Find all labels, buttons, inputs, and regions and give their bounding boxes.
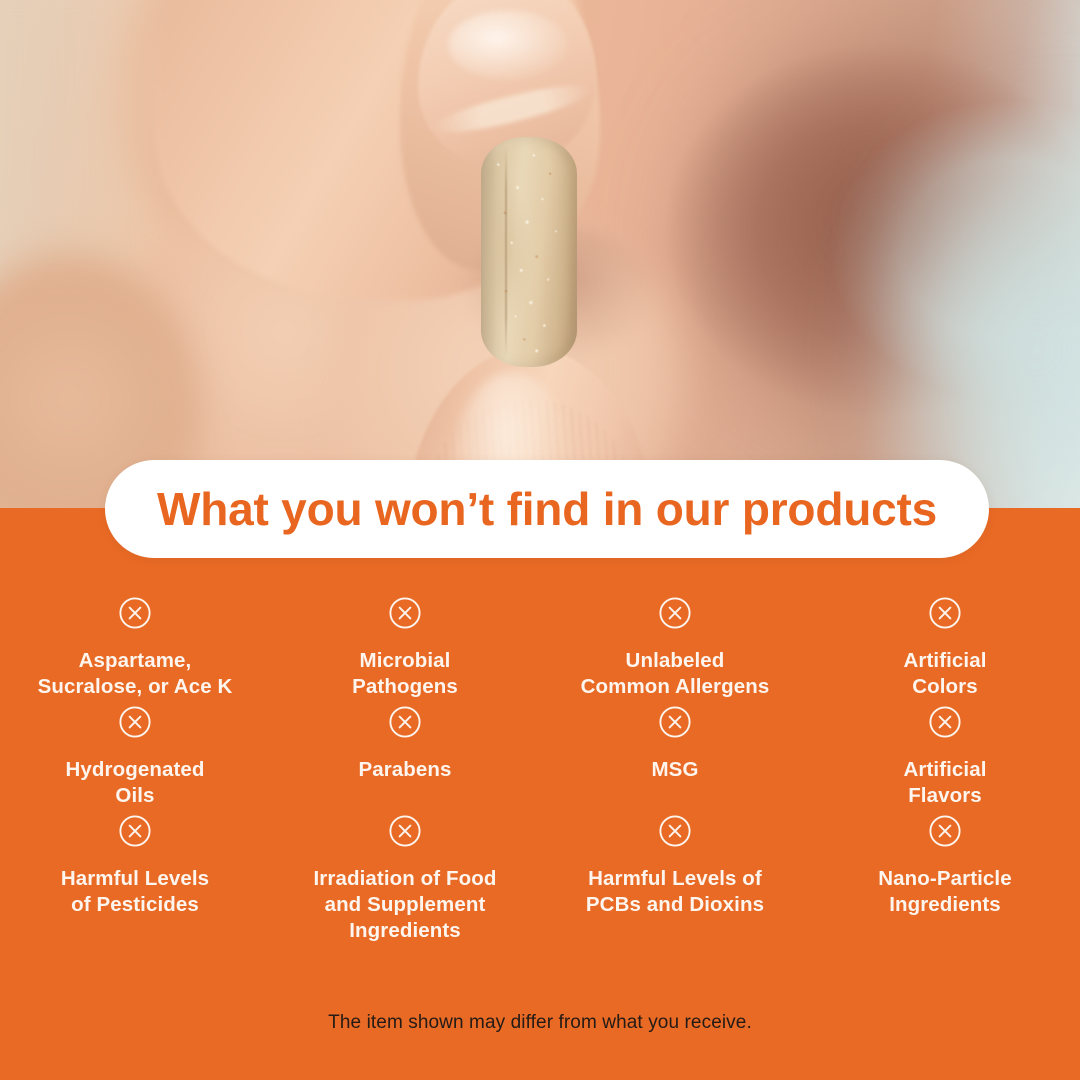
exclusion-item: Unlabeled Common Allergens (540, 580, 810, 689)
title-part-1: What you (157, 483, 375, 535)
circle-x-icon (928, 596, 962, 630)
exclusion-item: Harmful Levels of Pesticides (0, 798, 270, 907)
circle-x-icon (928, 705, 962, 739)
circle-x-icon (388, 705, 422, 739)
circle-x-icon (118, 596, 152, 630)
exclusion-item: Aspartame, Sucralose, or Ace K (0, 580, 270, 689)
supplement-tablet (481, 137, 577, 367)
title-part-3: find in our products (494, 483, 937, 535)
exclusion-item: Artificial Flavors (810, 689, 1080, 798)
disclaimer-text: The item shown may differ from what you … (0, 1012, 1080, 1034)
exclusion-label: Harmful Levels of Pesticides (61, 866, 209, 918)
exclusion-item: Parabens (270, 689, 540, 798)
exclusion-label: Nano-Particle Ingredients (878, 866, 1011, 918)
circle-x-icon (658, 814, 692, 848)
exclusion-item: Artificial Colors (810, 580, 1080, 689)
page-title: What you won’t find in our products (157, 486, 937, 532)
exclusion-grid: Aspartame, Sucralose, or Ace K Microbial… (0, 580, 1080, 907)
exclusion-item: Microbial Pathogens (270, 580, 540, 689)
circle-x-icon (928, 814, 962, 848)
headline-pill: What you won’t find in our products (105, 460, 989, 558)
exclusion-item: MSG (540, 689, 810, 798)
circle-x-icon (388, 596, 422, 630)
exclusion-label: Irradiation of Food and Supplement Ingre… (314, 866, 497, 944)
exclusion-item: Hydrogenated Oils (0, 689, 270, 798)
exclusion-item: Irradiation of Food and Supplement Ingre… (270, 798, 540, 907)
exclusion-label: Harmful Levels of PCBs and Dioxins (586, 866, 764, 918)
tablet-speckle-texture (481, 137, 577, 367)
circle-x-icon (118, 705, 152, 739)
exclusion-label: MSG (652, 757, 699, 783)
exclusion-item: Nano-Particle Ingredients (810, 798, 1080, 907)
title-emphasis: won’t (375, 483, 494, 535)
circle-x-icon (658, 596, 692, 630)
product-photo (0, 0, 1080, 512)
circle-x-icon (388, 814, 422, 848)
circle-x-icon (658, 705, 692, 739)
product-claims-poster: What you won’t find in our products Aspa… (0, 0, 1080, 1080)
exclusion-label: Parabens (358, 757, 451, 783)
exclusion-item: Harmful Levels of PCBs and Dioxins (540, 798, 810, 907)
thumbnail-gloss (448, 10, 568, 80)
circle-x-icon (118, 814, 152, 848)
